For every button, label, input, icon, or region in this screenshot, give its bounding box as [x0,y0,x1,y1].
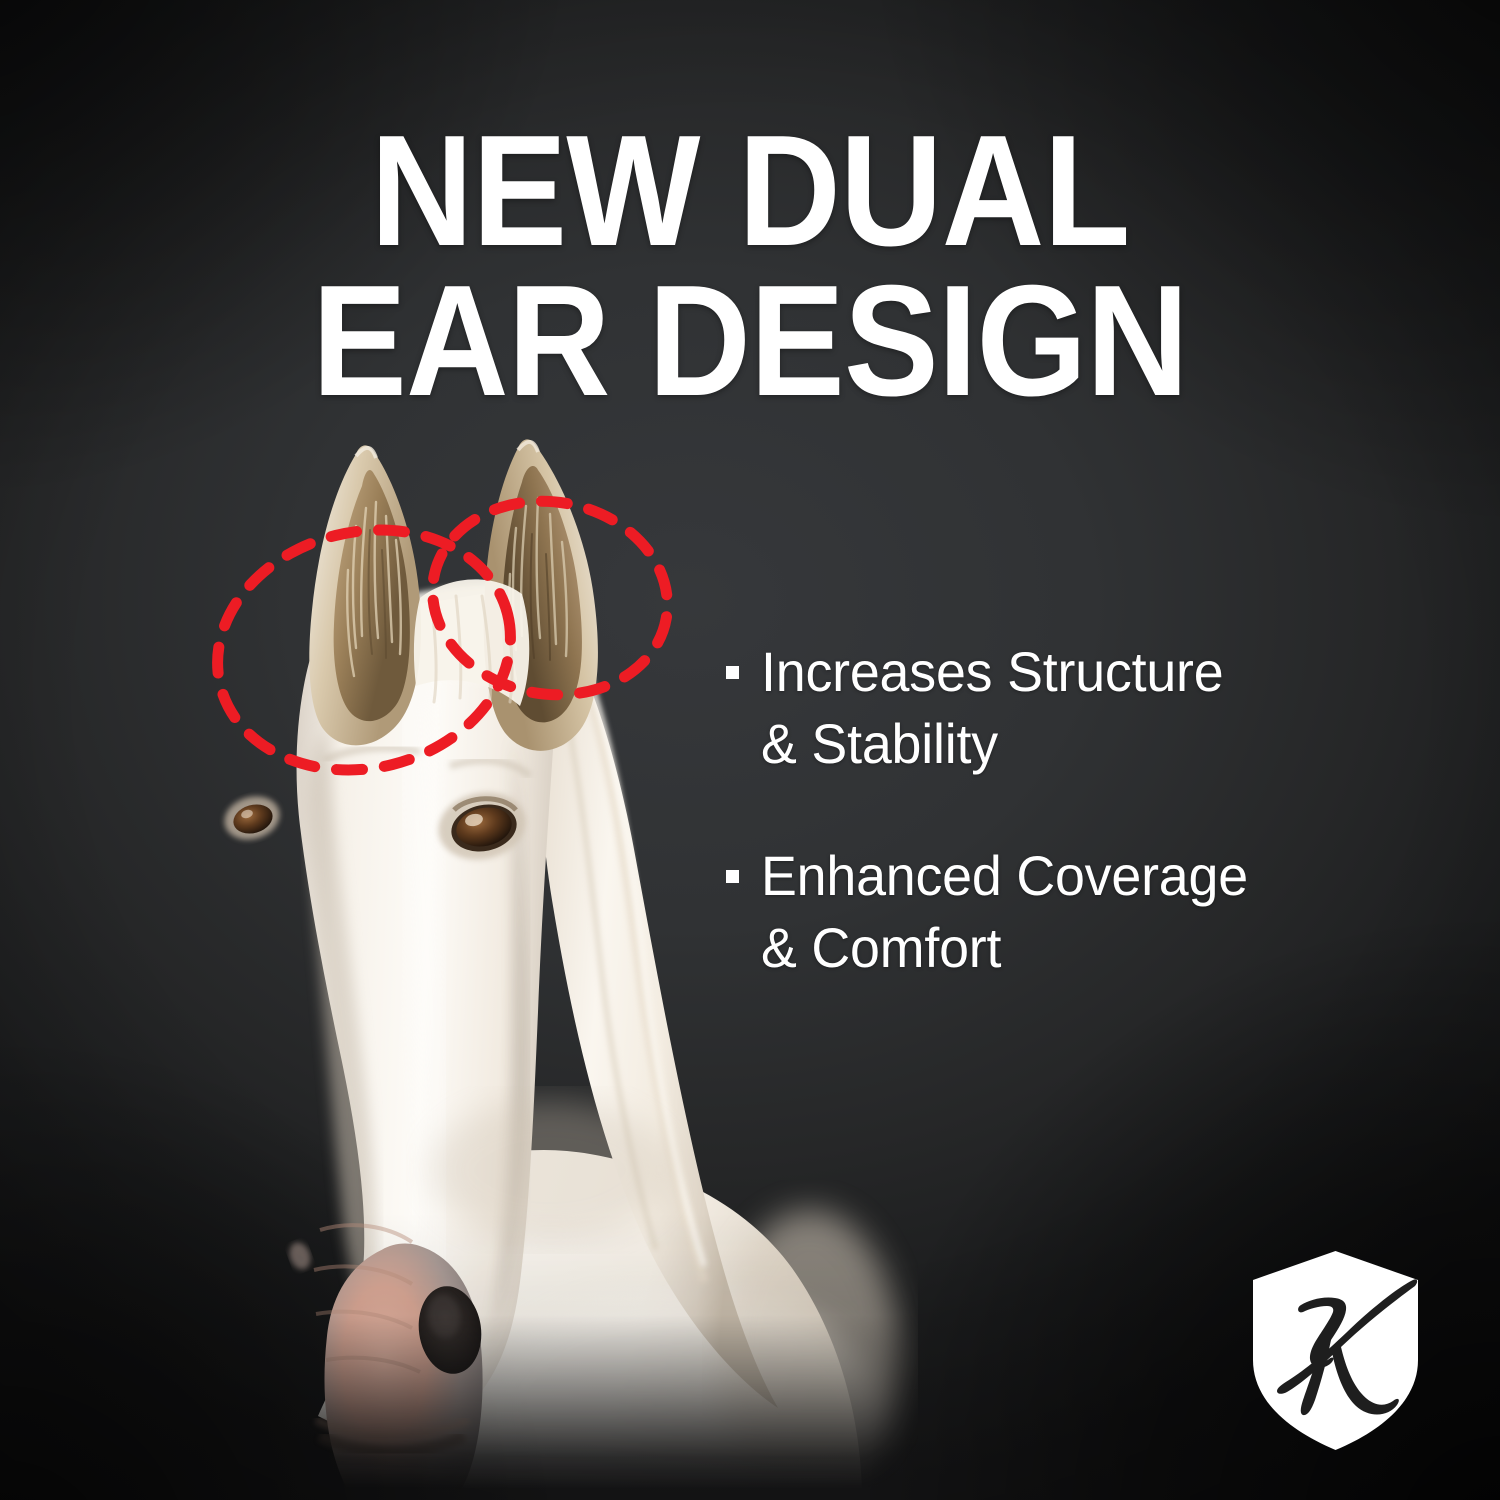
feature-list: Increases Structure & Stability Enhanced… [726,636,1426,984]
bullet-text: Increases Structure & Stability [761,636,1223,780]
bullet-line-1: Enhanced Coverage [761,844,1248,907]
bullet-text: Enhanced Coverage & Comfort [761,840,1248,984]
shield-k-icon [1243,1248,1428,1453]
horse-ear-left [309,445,421,745]
bullet-line-1: Increases Structure [761,640,1223,703]
list-item: Increases Structure & Stability [726,636,1426,780]
brand-logo [1243,1248,1428,1453]
list-item: Enhanced Coverage & Comfort [726,840,1426,984]
bullet-line-2: & Stability [761,712,998,775]
bullet-line-2: & Comfort [761,916,1001,979]
square-bullet-icon [726,870,739,883]
promo-banner: NEW DUAL EAR DESIGN [0,0,1500,1500]
square-bullet-icon [726,666,739,679]
horse-eye-left [219,790,284,846]
